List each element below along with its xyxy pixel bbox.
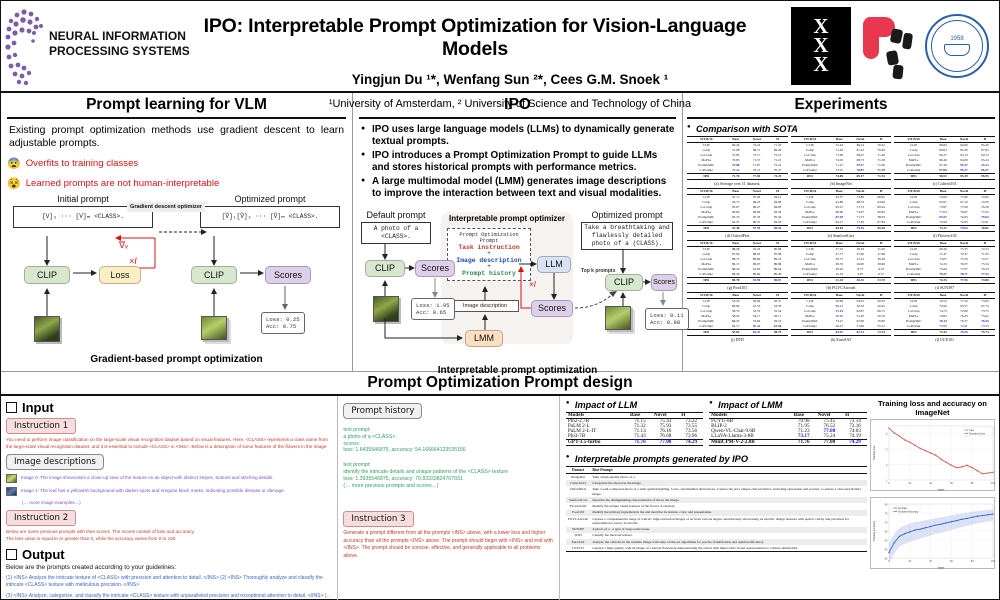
neurips-logo: NEURAL INFORMATION PROCESSING SYSTEMS xyxy=(1,1,251,91)
impact-cell: GPT-3.5-turbo xyxy=(566,440,628,446)
sota-table-caption: (k) EuroSAT xyxy=(791,337,892,342)
svg-text:70: 70 xyxy=(885,520,888,524)
table-row: IPO89.7891.5990.67 xyxy=(687,278,788,284)
svg-text:0: 0 xyxy=(888,481,890,485)
training-charts-column: Training loss and accuracy on ImageNet 1… xyxy=(867,399,995,600)
sota-table-block: ViT-B/16BaseNovelHCLIP90.1091.2290.66CoO… xyxy=(687,240,788,290)
svg-text:Training accuracy: Training accuracy xyxy=(872,520,876,541)
table-row: ImageNetTake a high-quality photo of a . xyxy=(566,474,867,481)
output-line-2: (3) <INS> Analyze, categorize, and class… xyxy=(6,593,332,600)
svg-text:100: 100 xyxy=(991,481,996,485)
impact-lmm-table: ModelsBaseNovelHFUYU-8B70.9875.4573.14BL… xyxy=(709,412,867,446)
impact-lmm-block: Impact of LMM ModelsBaseNovelHFUYU-8B70.… xyxy=(709,399,867,446)
svg-text:Smoothed Accuracy: Smoothed Accuracy xyxy=(898,511,919,514)
sample-image-left xyxy=(34,316,60,342)
sota-table-caption: (c) Caltech101 xyxy=(894,181,995,186)
instruction-1-tag: Instruction 1 xyxy=(6,418,76,434)
svg-text:55: 55 xyxy=(885,547,888,551)
svg-text:Accuracy: Accuracy xyxy=(898,507,908,510)
sota-method-name: IPO xyxy=(791,278,830,284)
ipo-bullet-2: IPO introduces a Prompt Optimization Pro… xyxy=(361,150,676,174)
sota-value: 95.95 xyxy=(975,174,995,180)
prompt-dataset-name: ImageNet xyxy=(566,474,590,481)
sota-method-name: IPO xyxy=(791,226,830,232)
image-description-row-0: Image 0: The image showcases a close-up … xyxy=(6,474,332,483)
prompt-best-text: Capture a high-quality, well-lit image o… xyxy=(590,545,867,552)
history-scores-0: loss: 1.6435546875, accuracy: 54.1666641… xyxy=(343,447,554,454)
svg-text:20: 20 xyxy=(908,481,911,485)
sota-method-name: IPO xyxy=(791,330,830,336)
history-more: (… more previous prompts and scores…) xyxy=(343,483,554,490)
sota-table-caption: (f) Flowers102 xyxy=(894,233,995,238)
history-scores-1: loss: 1.3935546875, accuracy: 70.8333282… xyxy=(343,476,554,483)
prompt-dataset-name: OxfordPets xyxy=(566,486,590,497)
training-accuracy-chart: 50556065707580020406080100stepsTraining … xyxy=(870,497,995,569)
neurips-line-1: NEURAL INFORMATION xyxy=(49,29,190,44)
svg-text:60: 60 xyxy=(885,538,888,542)
svg-text:100: 100 xyxy=(991,559,996,563)
sota-value: 71.76 xyxy=(726,174,746,180)
instruction-2-text: Below are some previous prompts with the… xyxy=(6,529,332,542)
uva-x-bottom: X xyxy=(813,56,828,74)
history-prompt-0: a photo of a <CLASS>. xyxy=(343,434,554,441)
more-image-examples: (… more image examples…) xyxy=(22,499,332,507)
sota-value: 53.65 xyxy=(726,330,746,336)
impact-cell: 77.00 xyxy=(652,440,679,446)
sota-table-caption: (j) DTD xyxy=(687,337,788,342)
impact-cell: 71.76 xyxy=(792,440,816,446)
svg-text:60: 60 xyxy=(950,559,953,563)
sota-value: 63.63 xyxy=(829,226,849,232)
sota-method-name: IPO xyxy=(894,330,933,336)
input-output-panel: Input Instruction 1 You need to perform … xyxy=(1,396,338,600)
neurips-wordmark: NEURAL INFORMATION PROCESSING SYSTEMS xyxy=(49,29,190,59)
sota-method-name: IPO xyxy=(894,226,933,232)
training-loss-chart: 1234020406080100stepsTraining lossLossSm… xyxy=(870,419,995,491)
sota-value: 82.13 xyxy=(849,330,871,336)
impact-cell: 77.00 xyxy=(816,440,843,446)
prompt-best-text: Capture a comprehensive range of well-li… xyxy=(590,516,867,527)
input-heading: Input xyxy=(6,400,332,415)
sota-table-caption: (e) StanfordCars xyxy=(791,233,892,238)
sample-image-stack-left xyxy=(201,316,227,340)
image-thumb-1 xyxy=(6,487,17,496)
table-row: IPO64.9782.1372.54 xyxy=(791,330,892,336)
impact-llm-block: Impact of LLM ModelsBaseNovelHPhi2-2.7B7… xyxy=(566,399,703,446)
prompts-col-dataset: Dataset xyxy=(566,467,590,474)
sota-table-caption: (i) SUN397 xyxy=(894,285,995,290)
sota-table-block: ViT-B/16BaseNovelHCLIP69.3474.2271.70CoO… xyxy=(687,136,788,186)
poster-root: NEURAL INFORMATION PROCESSING SYSTEMS IP… xyxy=(0,0,1000,600)
sota-value: 97.93 xyxy=(746,226,768,232)
svg-text:75: 75 xyxy=(885,511,888,515)
table-row: IPO72.2577.5374.80 xyxy=(894,278,995,284)
instruction-3-tag: Instruction 3 xyxy=(343,511,413,527)
divider-right xyxy=(687,117,995,119)
table-row: FGVCAircraftCapture a comprehensive rang… xyxy=(566,516,867,527)
sota-value: 75.73 xyxy=(975,330,995,336)
prompts-col-prompt: Best Prompt xyxy=(590,467,867,474)
output-heading: Output xyxy=(6,547,332,562)
sota-value: 69.16 xyxy=(871,226,891,232)
impact-llm-table: ModelsBaseNovelHPhi2-2.7B71.1575.4373.22… xyxy=(566,412,703,446)
neurips-dots-icon xyxy=(3,3,49,91)
table-row: IPO71.7677.0074.29 xyxy=(687,174,788,180)
image-description-0: Image 0: The image showcases a close-up … xyxy=(21,474,273,482)
red-shapes-icon xyxy=(859,11,917,81)
ustc-book-icon xyxy=(944,44,970,56)
prompt-best-text: Take a high-quality photo of a . xyxy=(590,474,867,481)
sota-table: ViT-B/16BaseNovelHCLIP27.1936.2931.09CoO… xyxy=(791,240,892,284)
image-thumb-0 xyxy=(6,474,17,483)
impact-tables-row: Impact of LLM ModelsBaseNovelHPhi2-2.7B7… xyxy=(566,399,867,446)
bottom-section: Prompt Optimization Prompt design Input … xyxy=(1,371,999,599)
sota-value: 76.81 xyxy=(975,226,995,232)
table-row: IPO96.9395.3995.95 xyxy=(894,174,995,180)
sota-method-name: IPO xyxy=(791,174,830,180)
instruction-2-tag: Instruction 2 xyxy=(6,510,76,526)
sota-table-block: ViT-B/16BaseNovelHCLIP27.1936.2931.09CoO… xyxy=(791,240,892,290)
history-entry-1: text prompt: identify the intricate deta… xyxy=(343,462,554,489)
table-row: OxfordPetsTake a well-composed photo of … xyxy=(566,486,867,497)
output-heading-label: Output xyxy=(22,547,65,562)
sota-value: 96.93 xyxy=(933,174,953,180)
metrics-box-left: Loss: 0.25 Acc: 0.75 xyxy=(261,312,305,334)
sota-value: 74.29 xyxy=(767,174,787,180)
red-institute-logo xyxy=(859,11,917,81)
sota-value: 74.17 xyxy=(933,226,953,232)
svg-text:Smoothed Loss: Smoothed Loss xyxy=(969,433,986,436)
instruction-3-text: Generate a prompt different from all the… xyxy=(343,530,554,560)
neurips-line-2: PROCESSING SYSTEMS xyxy=(49,44,190,59)
sota-table: ViT-B/16BaseNovelHCLIP70.5377.5073.85CoO… xyxy=(894,292,995,336)
sota-value: 36.32 xyxy=(849,278,871,284)
svg-text:80: 80 xyxy=(885,502,888,506)
prompt-dataset-name: UCF101 xyxy=(566,545,590,552)
checkbox-icon-output xyxy=(6,549,17,560)
svg-text:40: 40 xyxy=(929,559,932,563)
sota-method-name: IPO xyxy=(687,174,726,180)
poster-header: NEURAL INFORMATION PROCESSING SYSTEMS IP… xyxy=(1,1,999,93)
sota-method-name: IPO xyxy=(894,278,933,284)
ipo-diagram-arrows xyxy=(359,208,681,380)
sota-table-block: ViT-B/16BaseNovelHCLIP53.2459.9056.37CoO… xyxy=(687,292,788,342)
ipo-bullet-3: A large multimodal model (LMM) generates… xyxy=(361,176,676,200)
sota-table: ViT-B/16BaseNovelHCLIP56.4864.0560.03CoO… xyxy=(791,292,892,336)
image-description-1: Image 1: The leaf has a yellowish backgr… xyxy=(21,487,285,495)
sota-value: 91.59 xyxy=(746,278,768,284)
fearful-face-icon: 😨 xyxy=(7,157,21,170)
checkbox-icon-input xyxy=(6,402,17,413)
sota-table-caption: (d) OxfordPets xyxy=(687,233,788,238)
sota-table: ViT-B/16BaseNovelHCLIP53.2459.9056.37CoO… xyxy=(687,292,788,336)
warning-interpretability-label: Learned prompts are not human-interpreta… xyxy=(26,178,220,189)
svg-text:Loss: Loss xyxy=(969,430,975,432)
sota-tables-grid: ViT-B/16BaseNovelHCLIP69.3474.2271.70CoO… xyxy=(687,136,995,342)
impact-cell: MiniCPM-V-2-2.8B xyxy=(709,440,792,446)
author-list: Yingjun Du ¹*, Wenfang Sun ²*, Cees G.M.… xyxy=(251,72,769,87)
sota-table: ViT-B/16BaseNovelHCLIP69.3474.2271.70CoO… xyxy=(687,136,788,180)
history-scores-label-0: scores: xyxy=(343,441,554,448)
warning-overfit-label: Overfits to training classes xyxy=(26,158,139,169)
sota-table: ViT-B/16BaseNovelHCLIP69.3675.3572.23CoO… xyxy=(894,240,995,284)
sota-table-caption: (l) UCF101 xyxy=(894,337,995,342)
uva-logo: X X X xyxy=(791,7,851,85)
sota-table: ViT-B/16BaseNovelHCLIP96.8494.0095.40CoO… xyxy=(894,136,995,180)
sota-value: 72.54 xyxy=(871,330,891,336)
sota-value: 74.80 xyxy=(975,278,995,284)
prompt-learning-intro: Existing prompt optimization methods use… xyxy=(7,124,346,150)
sota-value: 31.43 xyxy=(829,278,849,284)
history-prompt-1: identify the intricate details and uniqu… xyxy=(343,469,554,476)
prompt-dataset-name: StanfordCars xyxy=(566,497,590,503)
sota-table: ViT-B/16BaseNovelHCLIP72.0877.8074.83CoO… xyxy=(894,188,995,232)
input-heading-label: Input xyxy=(22,400,54,415)
interpretable-prompts-table: DatasetBest PromptImageNetTake a high-qu… xyxy=(566,466,867,552)
page-title: IPO: Interpretable Prompt Optimization f… xyxy=(181,15,769,61)
divider-left xyxy=(7,117,346,119)
sota-table: ViT-B/16BaseNovelHCLIP72.4368.1470.22CoO… xyxy=(791,136,892,180)
sota-value: 95.39 xyxy=(953,174,975,180)
institution-logos: X X X 1958 xyxy=(769,1,999,91)
warning-interpretability: 😵 Learned prompts are not human-interpre… xyxy=(7,177,346,190)
sota-table-block: ViT-B/16BaseNovelHCLIP72.0877.8074.83CoO… xyxy=(894,188,995,238)
sota-method-name: IPO xyxy=(687,278,726,284)
sota-table: ViT-B/16BaseNovelHCLIP63.3774.8968.65CoO… xyxy=(791,188,892,232)
table-row: MiniCPM-V-2-2.8B71.7677.0074.29 xyxy=(709,440,867,446)
table-row: IPO74.0969.1771.54 xyxy=(791,174,892,180)
table-row: IPO94.4897.9396.42 xyxy=(687,226,788,232)
sota-value: 64.97 xyxy=(829,330,849,336)
image-descriptions-tag: Image descriptions xyxy=(6,454,104,470)
confounded-face-icon: 😵 xyxy=(7,177,21,190)
sota-value: 72.43 xyxy=(933,330,953,336)
sota-method-name: IPO xyxy=(687,226,726,232)
sota-table-caption: (b) ImageNet xyxy=(791,181,892,186)
iteration-count-left: ×I xyxy=(129,256,137,266)
lmm-bullet-label: Impact of LMM xyxy=(709,400,867,410)
sota-value: 71.54 xyxy=(871,174,891,180)
title-block: IPO: Interpretable Prompt Optimization f… xyxy=(251,1,769,91)
sota-value: 75.45 xyxy=(849,226,871,232)
interpretable-prompts-bullet: Interpretable prompts generated by IPO xyxy=(566,454,867,464)
column-experiments: Experiments Comparison with SOTA ViT-B/1… xyxy=(683,93,999,371)
column-ipo: IPO IPO uses large language models (LLMs… xyxy=(353,93,683,371)
sota-table-block: ViT-B/16BaseNovelHCLIP63.3774.8968.65CoO… xyxy=(791,188,892,238)
sota-table-block: ViT-B/16BaseNovelHCLIP56.4864.0560.03CoO… xyxy=(791,292,892,342)
sota-table-block: ViT-B/16BaseNovelHCLIP96.8494.0095.40CoO… xyxy=(894,136,995,186)
table-row: IPO74.1779.6376.81 xyxy=(894,226,995,232)
sota-table-block: ViT-B/16BaseNovelHCLIP70.5377.5073.85CoO… xyxy=(894,292,995,342)
svg-text:Training loss: Training loss xyxy=(872,445,876,460)
gradient-symbol: ∇ᵥ xyxy=(119,240,128,251)
svg-text:steps: steps xyxy=(938,566,945,570)
ipo-diagram: Default prompt A photo of a <CLASS>. Int… xyxy=(359,208,676,380)
sota-value: 77.53 xyxy=(953,278,975,284)
svg-text:2: 2 xyxy=(886,463,888,467)
svg-text:4: 4 xyxy=(886,432,888,436)
ustc-founding-year: 1958 xyxy=(950,36,963,42)
charts-title: Training loss and accuracy on ImageNet xyxy=(870,399,995,417)
gradient-diagram: Initial prompt [V]₂ ··· [V]ₘ <CLASS>. Op… xyxy=(7,194,346,366)
sota-value: 62.47 xyxy=(746,330,768,336)
history-entry-0: text prompt: a photo of a <CLASS>. score… xyxy=(343,427,554,454)
svg-text:65: 65 xyxy=(885,529,888,533)
sota-value: 33.70 xyxy=(871,278,891,284)
sota-method-name: IPO xyxy=(894,174,933,180)
prompt-history-panel: Prompt history text prompt: a photo of a… xyxy=(338,396,560,600)
ipo-bullet-1: IPO uses large language models (LLMs) to… xyxy=(361,124,676,148)
sota-table-caption: (h) FGVCAircraft xyxy=(791,285,892,290)
table-row: GPT-3.5-turbo71.7677.0074.29 xyxy=(566,440,703,446)
main-columns: Prompt learning for VLM Existing prompt … xyxy=(1,93,999,371)
results-panel: Impact of LLM ModelsBaseNovelHPhi2-2.7B7… xyxy=(560,396,999,600)
table-row: IPO31.4336.3233.70 xyxy=(791,278,892,284)
ipo-bullet-list: IPO uses large language models (LLMs) to… xyxy=(359,124,676,200)
gradient-diagram-caption: Gradient-based prompt optimization xyxy=(7,354,346,365)
impact-cell: 74.29 xyxy=(843,440,867,446)
llm-bullet-label: Impact of LLM xyxy=(566,400,703,410)
impact-cell: 74.29 xyxy=(679,440,703,446)
sota-value: 69.17 xyxy=(849,174,871,180)
output-intro-text: Below are the prompts created according … xyxy=(6,564,332,571)
svg-text:20: 20 xyxy=(908,559,911,563)
table-row: IPO53.6562.4758.75 xyxy=(687,330,788,336)
ipo-diagram-caption: Interpretable prompt optimization xyxy=(359,365,676,376)
image-description-row-1: Image 1: The leaf has a yellowish backgr… xyxy=(6,487,332,496)
training-accuracy-plot: 50556065707580020406080100stepsTraining … xyxy=(871,498,997,570)
clip-node-initial: CLIP xyxy=(24,266,70,284)
history-label-1: text prompt: xyxy=(343,462,554,469)
prompt-history-tag: Prompt history xyxy=(343,403,422,419)
sota-table-caption: (a) Average over 11 datasets. xyxy=(687,181,788,186)
history-label-0: text prompt: xyxy=(343,427,554,434)
table-row: IPO72.4379.3575.73 xyxy=(894,330,995,336)
sota-value: 96.42 xyxy=(767,226,787,232)
sota-value: 58.75 xyxy=(767,330,787,336)
sota-table: ViT-B/16BaseNovelHCLIP91.1797.2694.12CoO… xyxy=(687,188,788,232)
ustc-logo-inner: 1958 xyxy=(931,20,983,72)
loss-node: Loss xyxy=(99,266,141,284)
sota-value: 77.00 xyxy=(746,174,768,180)
instruction-1-text: You need to perform image classification… xyxy=(6,437,332,450)
divider-mid xyxy=(359,117,676,119)
sota-value: 89.78 xyxy=(726,278,746,284)
sota-bullet-label: Comparison with SOTA xyxy=(687,124,995,134)
svg-text:40: 40 xyxy=(929,481,932,485)
scores-node-left: Scores xyxy=(265,266,311,284)
sota-table-block: ViT-B/16BaseNovelHCLIP91.1797.2694.12CoO… xyxy=(687,188,788,238)
prompt-dataset-name: FGVCAircraft xyxy=(566,516,590,527)
sota-value: 90.67 xyxy=(767,278,787,284)
sota-table-caption: (g) Food101 xyxy=(687,285,788,290)
output-line-1: (1) <INS> Analyze the intricate texture … xyxy=(6,575,332,589)
affiliations: ¹University of Amsterdam, ² University o… xyxy=(251,98,769,110)
sota-table: ViT-B/16BaseNovelHCLIP90.1091.2290.66CoO… xyxy=(687,240,788,284)
svg-text:3: 3 xyxy=(886,447,888,451)
sota-value: 79.35 xyxy=(953,330,975,336)
sota-value: 72.25 xyxy=(933,278,953,284)
svg-text:80: 80 xyxy=(971,481,974,485)
table-row: IPO63.6375.4569.16 xyxy=(791,226,892,232)
svg-text:80: 80 xyxy=(971,559,974,563)
bottom-columns: Input Instruction 1 You need to perform … xyxy=(1,396,999,600)
impact-cell: 71.76 xyxy=(628,440,652,446)
svg-text:60: 60 xyxy=(950,481,953,485)
prompt-best-text: Take a well-composed photo of a with opt… xyxy=(590,486,867,497)
training-loss-plot: 1234020406080100stepsTraining lossLossSm… xyxy=(871,420,997,492)
sota-table-block: ViT-B/16BaseNovelHCLIP72.4368.1470.22CoO… xyxy=(791,136,892,186)
table-row: UCF101Capture a high-quality, well-lit i… xyxy=(566,545,867,552)
sota-value: 79.63 xyxy=(953,226,975,232)
clip-node-optimized: CLIP xyxy=(191,266,237,284)
column-prompt-learning: Prompt learning for VLM Existing prompt … xyxy=(1,93,353,371)
sota-value: 94.48 xyxy=(726,226,746,232)
svg-text:steps: steps xyxy=(938,488,945,492)
sota-method-name: IPO xyxy=(687,330,726,336)
sota-table-block: ViT-B/16BaseNovelHCLIP69.3675.3572.23CoO… xyxy=(894,240,995,290)
sota-value: 74.09 xyxy=(829,174,849,180)
ustc-logo: 1958 xyxy=(925,14,989,78)
warning-overfit: 😨 Overfits to training classes xyxy=(7,157,346,170)
